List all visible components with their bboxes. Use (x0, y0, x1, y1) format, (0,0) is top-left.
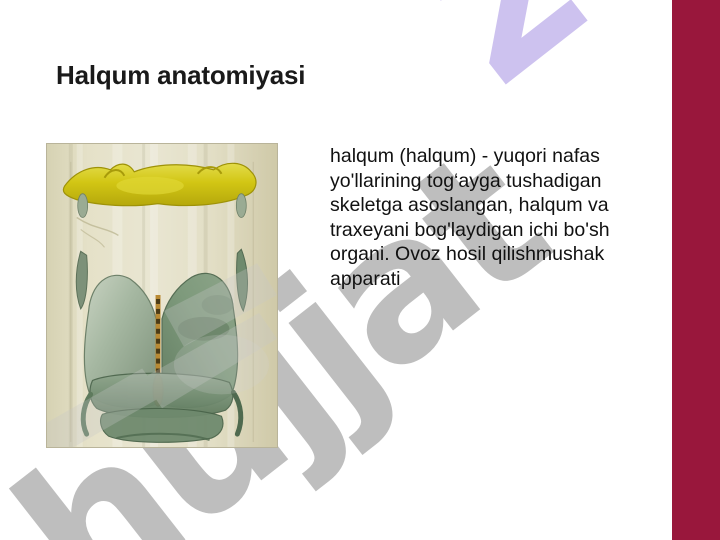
accent-bar (672, 0, 720, 540)
page-title: Halqum anatomiyasi (56, 60, 616, 91)
body-paragraph: halqum (halqum) - yuqori nafas yo'llarin… (330, 144, 630, 291)
larynx-illustration-svg (47, 144, 277, 447)
larynx-anatomy-image (46, 143, 278, 448)
slide: hujjat 24 (0, 0, 720, 540)
accent-bar-gap (648, 0, 672, 540)
